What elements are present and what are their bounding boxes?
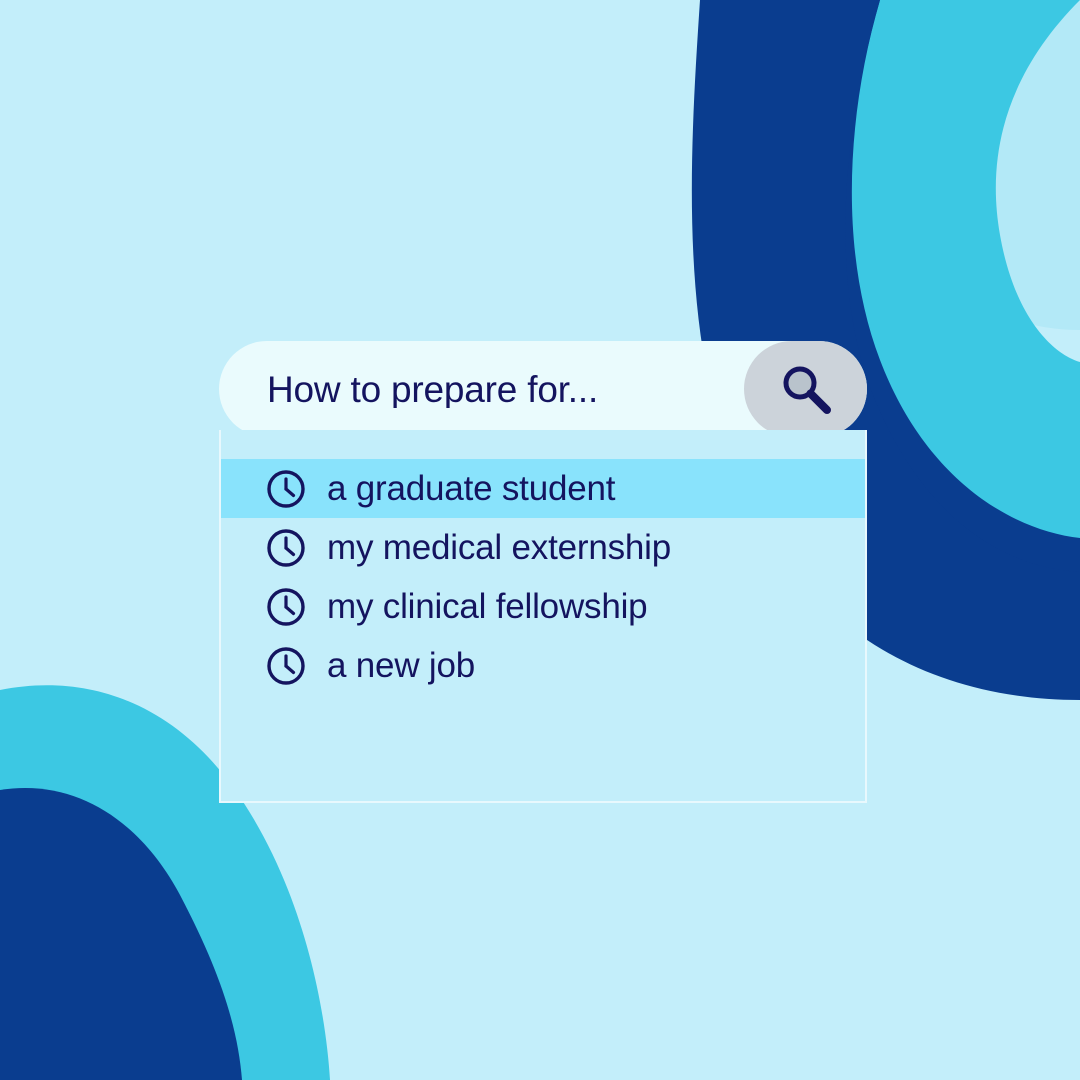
search-input[interactable]: How to prepare for... — [219, 371, 744, 408]
clock-icon — [265, 645, 307, 687]
clock-icon — [265, 527, 307, 569]
suggestion-item-2[interactable]: my clinical fellowship — [221, 577, 865, 636]
suggestion-label: a new job — [327, 648, 475, 683]
search-bar[interactable]: How to prepare for... — [219, 341, 867, 437]
suggestion-label: a graduate student — [327, 471, 615, 506]
search-widget: How to prepare for... a graduate student — [219, 341, 867, 803]
suggestion-item-3[interactable]: a new job — [221, 636, 865, 695]
suggestion-item-1[interactable]: my medical externship — [221, 518, 865, 577]
poster-canvas: How to prepare for... a graduate student — [0, 0, 1080, 1080]
clock-icon — [265, 586, 307, 628]
clock-icon — [265, 468, 307, 510]
search-icon — [775, 358, 837, 420]
search-submit-button[interactable] — [744, 341, 867, 437]
suggestion-label: my clinical fellowship — [327, 589, 647, 624]
suggestion-label: my medical externship — [327, 530, 671, 565]
suggestions-panel: a graduate student my medical externship… — [219, 430, 867, 803]
suggestion-item-0[interactable]: a graduate student — [221, 459, 865, 518]
